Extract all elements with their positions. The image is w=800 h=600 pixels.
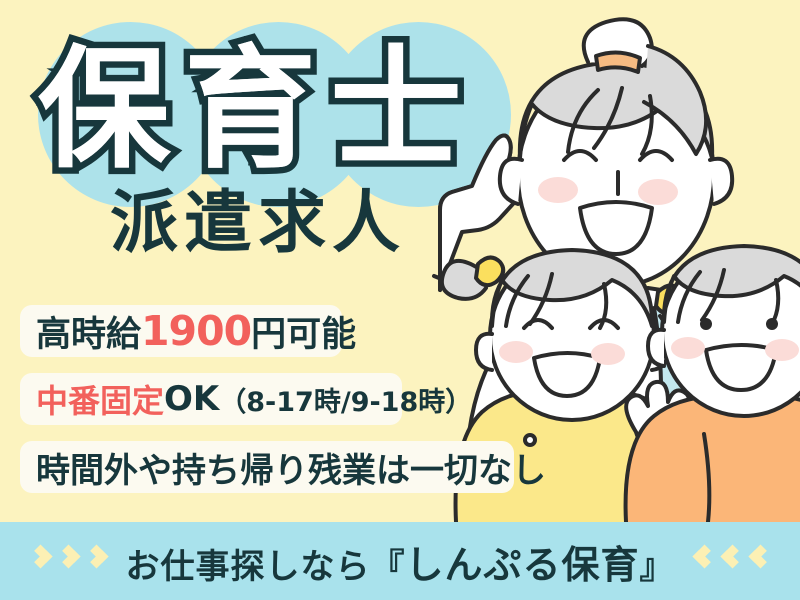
chevron-left-icon — [749, 544, 771, 578]
banner-lead: お仕事探しなら — [125, 547, 370, 587]
feature-pill-overtime: 時間外や持ち帰り残業は一切なし — [20, 441, 514, 493]
headline-subtitle: 派遣求人 — [110, 190, 406, 258]
banner-close-quote: 』 — [640, 547, 675, 587]
chevrons-right-group — [693, 544, 771, 578]
chevron-left-icon — [721, 544, 743, 578]
feature-shift-ok: OK — [164, 379, 219, 419]
chevrons-left-group — [29, 544, 107, 578]
chevron-left-icon — [693, 544, 715, 578]
chevron-right-icon — [85, 544, 107, 578]
bottom-banner: お仕事探しなら『しんぷる保育』 — [0, 522, 800, 600]
feature-pill-wage: 高時給1900円可能 — [20, 305, 342, 357]
chevron-right-icon — [29, 544, 51, 578]
page-title: 保育士 — [38, 20, 518, 200]
chevron-right-icon — [57, 544, 79, 578]
feature-shift-hours: （8-17時/9-18時） — [219, 380, 472, 419]
feature-wage-number: 1900 — [141, 307, 251, 355]
banner-open-quote: 『 — [370, 547, 405, 587]
banner-tagline: お仕事探しなら『しんぷる保育』 — [125, 534, 674, 589]
feature-pill-shift: 中番固定OK（8-17時/9-18時） — [20, 373, 402, 425]
feature-shift-accent: 中番固定 — [36, 376, 164, 422]
feature-wage-tail: 円可能 — [251, 306, 356, 357]
poster-root: 保育士 保育士 派遣求人 高時給1900円可能 中番固定OK（8-17時/9-1… — [0, 0, 800, 600]
feature-overtime-text: 時間外や持ち帰り残業は一切なし — [36, 443, 546, 492]
feature-wage-lead: 高時給 — [36, 306, 141, 357]
banner-brand: しんぷる保育 — [405, 543, 639, 587]
